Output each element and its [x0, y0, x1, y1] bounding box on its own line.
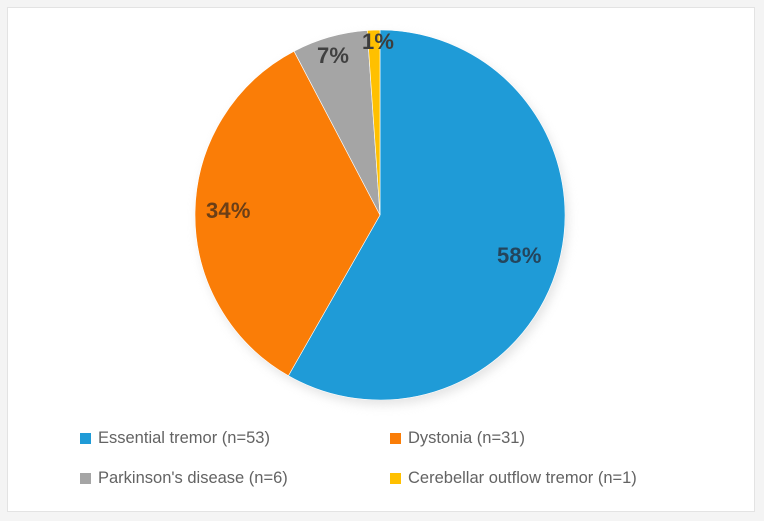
legend-item-cerebellar-outflow-tremor: Cerebellar outflow tremor (n=1): [390, 470, 637, 487]
legend-label-dystonia: Dystonia (n=31): [408, 430, 525, 447]
legend-swatch-icon-dystonia: [390, 433, 401, 444]
legend-swatch-icon-parkinsons-disease: [80, 473, 91, 484]
chart-legend: Essential tremor (n=53) Dystonia (n=31) …: [72, 424, 702, 500]
legend-label-parkinsons-disease: Parkinson's disease (n=6): [98, 470, 288, 487]
legend-item-dystonia: Dystonia (n=31): [390, 430, 525, 447]
slice-label-cerebellar-outflow-tremor: 1%: [362, 29, 394, 55]
slice-label-dystonia: 34%: [206, 198, 251, 224]
slice-label-essential-tremor: 58%: [497, 243, 542, 269]
legend-item-parkinsons-disease: Parkinson's disease (n=6): [80, 470, 288, 487]
legend-swatch-icon-essential-tremor: [80, 433, 91, 444]
pie-chart-figure: 58% 34% 7% 1% Essential tremor (n=53) Dy…: [0, 0, 764, 521]
legend-label-essential-tremor: Essential tremor (n=53): [98, 430, 270, 447]
legend-label-cerebellar-outflow-tremor: Cerebellar outflow tremor (n=1): [408, 470, 637, 487]
legend-swatch-icon-cerebellar-outflow-tremor: [390, 473, 401, 484]
legend-item-essential-tremor: Essential tremor (n=53): [80, 430, 270, 447]
slice-label-parkinsons-disease: 7%: [317, 43, 349, 69]
